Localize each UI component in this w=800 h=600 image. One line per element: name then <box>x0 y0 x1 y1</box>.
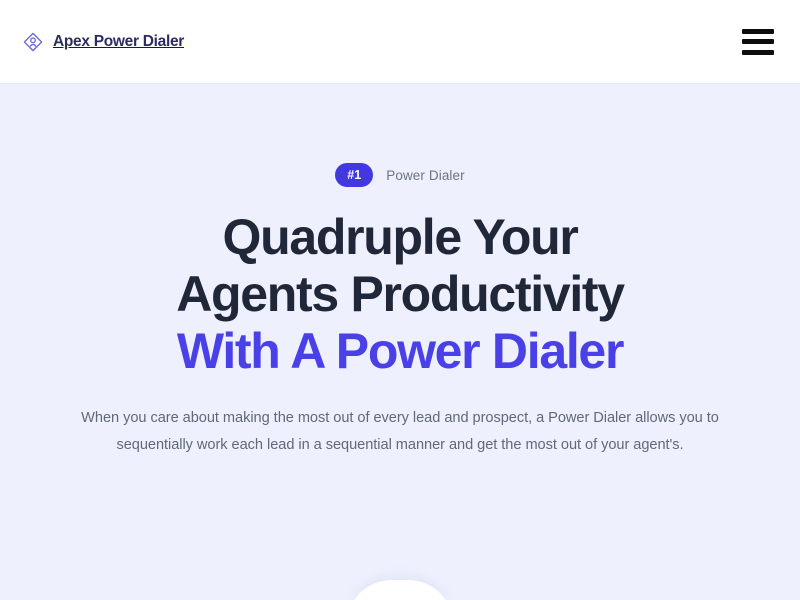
eyebrow-label: Power Dialer <box>386 168 464 183</box>
rank-badge: #1 <box>335 163 373 187</box>
subcopy-line-1: When you care about making the most out … <box>20 405 780 432</box>
hero-subcopy: When you care about making the most out … <box>20 405 780 459</box>
headline-line-2: Agents Productivity <box>176 266 624 323</box>
landing-page: Apex Power Dialer #1 Power Dialer Quadru… <box>0 0 800 600</box>
brand-logo-link[interactable]: Apex Power Dialer <box>22 31 184 53</box>
headline-accent-line: With A Power Dialer <box>176 323 624 380</box>
hero-eyebrow: #1 Power Dialer <box>335 163 464 187</box>
hero-visual-card <box>346 580 454 600</box>
hero-section: #1 Power Dialer Quadruple Your Agents Pr… <box>0 84 800 600</box>
brand-name: Apex Power Dialer <box>53 33 184 51</box>
diamond-person-logo-icon <box>22 31 44 53</box>
site-header: Apex Power Dialer <box>0 0 800 84</box>
menu-bar-top <box>742 29 774 34</box>
hamburger-menu-icon[interactable] <box>742 29 774 55</box>
hero-headline: Quadruple Your Agents Productivity With … <box>176 209 624 380</box>
menu-bar-bottom <box>742 50 774 55</box>
menu-bar-middle <box>742 39 774 44</box>
headline-line-1: Quadruple Your <box>176 209 624 266</box>
subcopy-line-2: sequentially work each lead in a sequent… <box>20 432 780 459</box>
